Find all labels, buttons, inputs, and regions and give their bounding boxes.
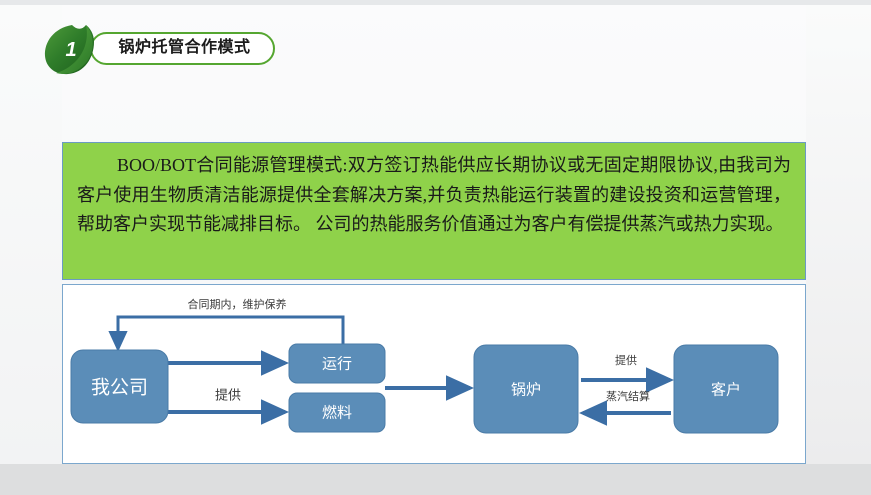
- node-operation: 运行: [289, 344, 385, 383]
- node-label-fuel: 燃料: [322, 404, 352, 422]
- top-edge-strip: [0, 0, 871, 5]
- node-label-company: 我公司: [91, 377, 148, 399]
- page-title: 锅炉托管合作模式: [102, 37, 267, 59]
- edge-label-settle: 蒸汽结算: [606, 389, 650, 403]
- description-text: BOO/BOT合同能源管理模式:双方签订热能供应长期协议或无固定期限协议,由我司…: [77, 151, 791, 240]
- description-panel: BOO/BOT合同能源管理模式:双方签订热能供应长期协议或无固定期限协议,由我司…: [62, 142, 806, 280]
- node-customer: 客户: [674, 345, 778, 433]
- edge-label-supply: 提供: [615, 353, 637, 367]
- edge-label-provide-fuel: 提供: [215, 388, 241, 403]
- edge-label-maintain: 合同期内，维护保养: [188, 297, 287, 311]
- slide-header: 1 锅炉托管合作模式: [42, 24, 282, 76]
- flow-diagram: 合同期内，维护保养 提供 提供 蒸汽结算 我公司 运行: [63, 285, 805, 463]
- slide-root: 1 锅炉托管合作模式 BOO/BOT合同能源管理模式:双方签订热能供应长期协议或…: [0, 0, 871, 495]
- right-gutter: [806, 5, 871, 464]
- node-label-operation: 运行: [322, 356, 352, 373]
- node-label-customer: 客户: [711, 382, 741, 399]
- node-boiler: 锅炉: [474, 345, 578, 433]
- node-company: 我公司: [71, 350, 168, 423]
- leaf-icon: [42, 24, 98, 76]
- bottom-edge-strip: [0, 464, 871, 495]
- node-label-boiler: 锅炉: [511, 382, 541, 399]
- node-fuel: 燃料: [289, 393, 385, 432]
- diagram-panel: 合同期内，维护保养 提供 提供 蒸汽结算 我公司 运行: [62, 284, 806, 464]
